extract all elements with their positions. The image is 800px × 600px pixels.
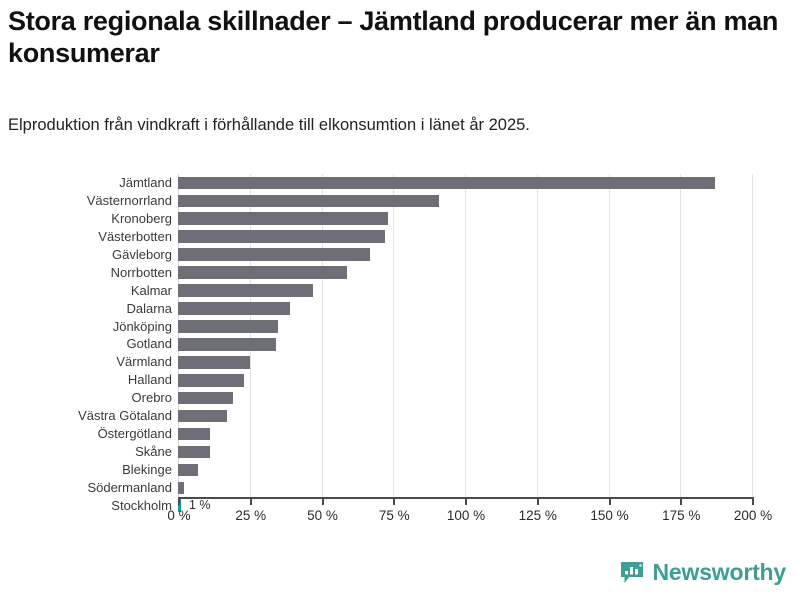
bar-row[interactable]	[178, 425, 752, 443]
y-axis-category-labels: JämtlandVästernorrlandKronobergVästerbot…	[0, 174, 172, 497]
y-axis-label: Jönköping	[0, 318, 172, 336]
bar[interactable]	[178, 266, 347, 279]
bar[interactable]	[178, 374, 244, 387]
y-axis-label: Jämtland	[0, 174, 172, 192]
y-axis-label: Östergötland	[0, 425, 172, 443]
plot-area: 1 %	[178, 174, 752, 497]
x-axis-tick	[752, 497, 754, 505]
y-axis-label: Västerbotten	[0, 228, 172, 246]
x-axis-tick-label: 50 %	[307, 508, 338, 523]
x-axis-tick	[465, 497, 467, 505]
bar-row[interactable]	[178, 192, 752, 210]
bar-row[interactable]	[178, 210, 752, 228]
bar[interactable]	[178, 482, 184, 495]
bar-row[interactable]	[178, 335, 752, 353]
bar[interactable]	[178, 284, 313, 297]
bar-row[interactable]	[178, 300, 752, 318]
bar[interactable]	[178, 230, 385, 243]
chart-page: Stora regionala skillnader – Jämtland pr…	[0, 0, 800, 600]
x-axis-tick	[609, 497, 611, 505]
x-axis-tick-label: 75 %	[379, 508, 410, 523]
bar-row[interactable]	[178, 282, 752, 300]
y-axis-label: Orebro	[0, 389, 172, 407]
bar-row[interactable]	[178, 264, 752, 282]
bar[interactable]	[178, 212, 388, 225]
bar[interactable]	[178, 392, 233, 405]
x-axis-tick	[178, 497, 180, 505]
y-axis-label: Västernorrland	[0, 192, 172, 210]
x-axis-tick-label: 175 %	[662, 508, 700, 523]
x-axis-tick-label: 200 %	[734, 508, 772, 523]
bar-row[interactable]	[178, 443, 752, 461]
x-axis-tick-label: 125 %	[519, 508, 557, 523]
y-axis-label: Skåne	[0, 443, 172, 461]
y-axis-label: Kalmar	[0, 282, 172, 300]
y-axis-label: Dalarna	[0, 300, 172, 318]
bar[interactable]	[178, 177, 715, 190]
y-axis-label: Värmland	[0, 353, 172, 371]
bar-row[interactable]	[178, 479, 752, 497]
bar-row[interactable]	[178, 461, 752, 479]
bar-rows: 1 %	[178, 174, 752, 497]
x-axis-tick-label: 150 %	[590, 508, 628, 523]
x-axis-tick	[322, 497, 324, 505]
y-axis-label: Västra Götaland	[0, 407, 172, 425]
bar[interactable]	[178, 338, 276, 351]
y-axis-label: Stockholm	[0, 497, 172, 515]
bar[interactable]	[178, 302, 290, 315]
y-axis-label: Gävleborg	[0, 246, 172, 264]
bar-row[interactable]	[178, 246, 752, 264]
bar[interactable]	[178, 464, 198, 477]
x-axis-tick	[680, 497, 682, 505]
bar-value-label: 1 %	[189, 498, 211, 512]
bar[interactable]	[178, 356, 250, 369]
bar[interactable]	[178, 428, 210, 441]
bar[interactable]	[178, 446, 210, 459]
bar[interactable]	[178, 248, 370, 261]
bar-row[interactable]	[178, 371, 752, 389]
bar-chart: JämtlandVästernorrlandKronobergVästerbot…	[0, 170, 800, 530]
bar-row[interactable]	[178, 407, 752, 425]
y-axis-label: Kronoberg	[0, 210, 172, 228]
bar-chart-speech-bubble-icon	[619, 560, 645, 586]
bar-row[interactable]	[178, 228, 752, 246]
x-axis-tick	[537, 497, 539, 505]
y-axis-label: Norrbotten	[0, 264, 172, 282]
bar[interactable]	[178, 320, 278, 333]
chart-subtitle: Elproduktion från vindkraft i förhålland…	[8, 115, 792, 136]
x-axis-tick-label: 0 %	[167, 508, 190, 523]
bar[interactable]	[178, 195, 439, 208]
x-axis-tick	[250, 497, 252, 505]
gridline	[752, 174, 753, 497]
newsworthy-logo[interactable]: Newsworthy	[619, 559, 786, 586]
page-title: Stora regionala skillnader – Jämtland pr…	[8, 6, 788, 70]
y-axis-label: Gotland	[0, 335, 172, 353]
bar-row[interactable]	[178, 318, 752, 336]
bar[interactable]	[178, 410, 227, 423]
y-axis-label: Halland	[0, 371, 172, 389]
x-axis-tick	[393, 497, 395, 505]
bar-row[interactable]	[178, 389, 752, 407]
bar-row[interactable]	[178, 353, 752, 371]
x-axis-tick-label: 100 %	[447, 508, 485, 523]
y-axis-label: Södermanland	[0, 479, 172, 497]
bar-row[interactable]	[178, 174, 752, 192]
y-axis-label: Blekinge	[0, 461, 172, 479]
x-axis-tick-label: 25 %	[235, 508, 266, 523]
brand-wordmark: Newsworthy	[653, 559, 786, 586]
